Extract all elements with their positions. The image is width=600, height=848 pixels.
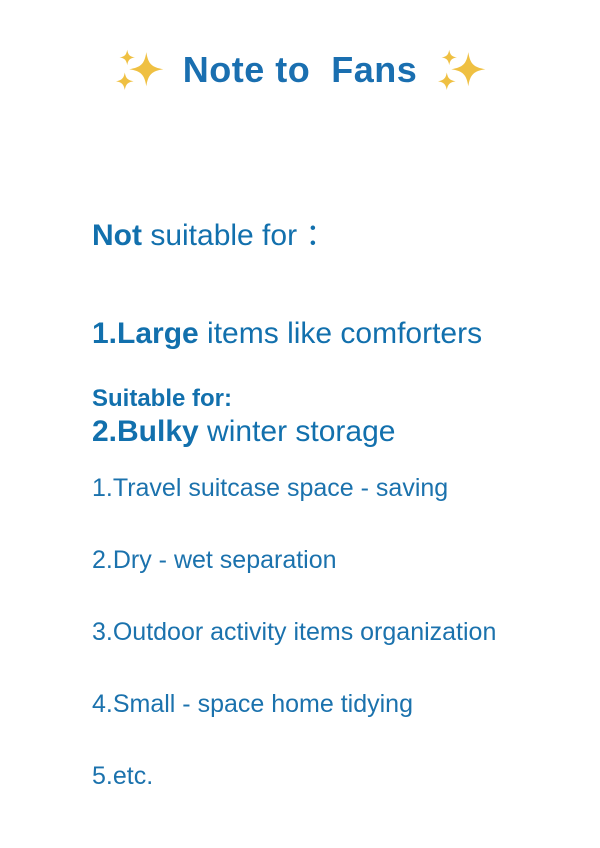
not-suitable-heading-strong: Not <box>92 219 142 252</box>
suitable-item: 1.Travel suitcase space - saving <box>92 470 496 506</box>
suitable-item: 4.Small - space home tidying <box>92 686 496 722</box>
suitable-heading: Suitable for: <box>92 382 496 416</box>
page-title: Note to Fans <box>183 52 418 88</box>
sparkles-icon <box>435 44 487 96</box>
suitable-item: 5.etc. <box>92 758 496 794</box>
suitable-item: 3.Outdoor activity items organization <box>92 614 496 650</box>
note-poster: Note to Fans Not suitable for ： 1.Large … <box>0 0 600 600</box>
not-suitable-heading: Not suitable for ： <box>92 214 482 258</box>
suitable-section: Suitable for: 1.Travel suitcase space - … <box>92 328 496 848</box>
not-suitable-heading-rest: suitable for ： <box>142 219 335 252</box>
suitable-item: 2.Dry - wet separation <box>92 542 496 578</box>
title-row: Note to Fans <box>0 44 600 96</box>
sparkles-icon <box>113 44 165 96</box>
